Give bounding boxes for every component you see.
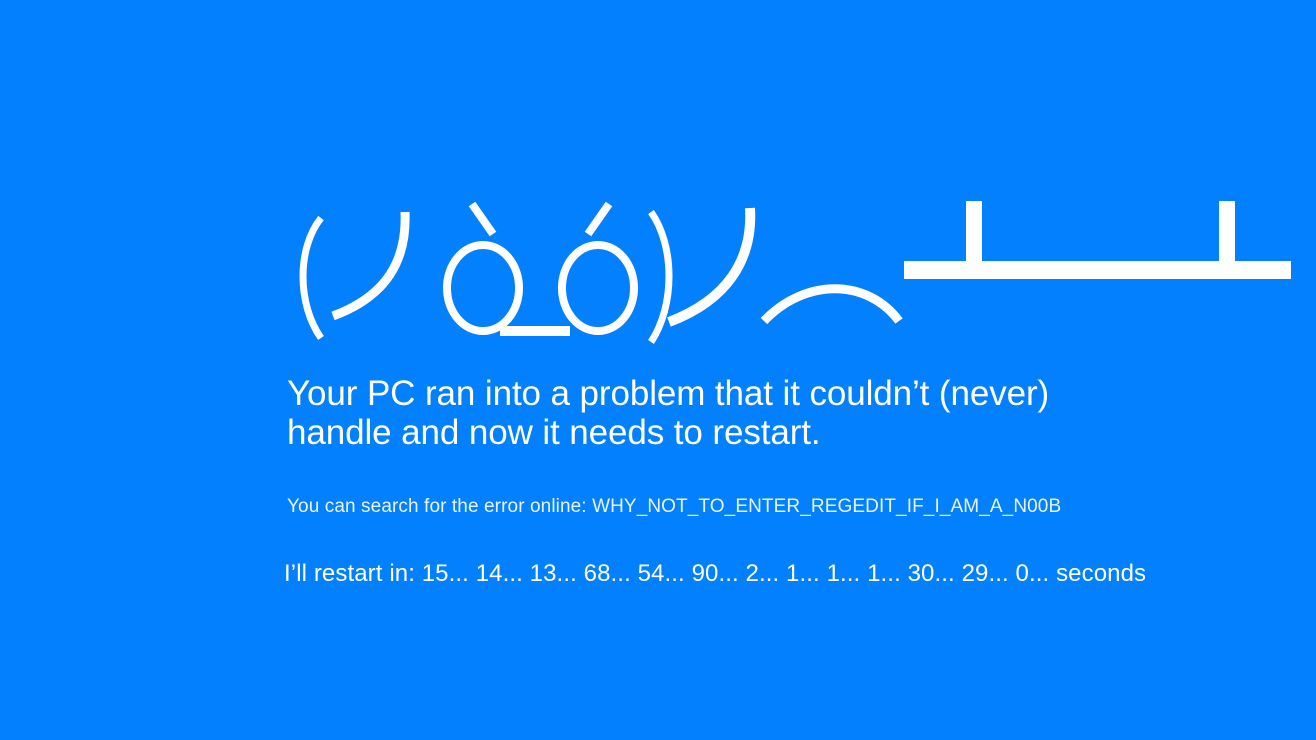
table-leg-right-glyph [1219, 201, 1235, 269]
flip-stroke-right-glyph [669, 208, 750, 322]
page-title: Your PC ran into a problem that it could… [287, 374, 1067, 452]
paren-close-glyph [651, 212, 669, 342]
error-code-line: You can search for the error online: WHY… [287, 494, 1061, 520]
table-top-bar-glyph [904, 261, 1291, 279]
table-leg-left-glyph [966, 201, 982, 269]
headline-line-1: Your PC ran into a problem that it could… [287, 374, 1067, 413]
acute-accent-glyph [588, 204, 609, 234]
grave-accent-glyph [472, 204, 493, 234]
flying-arc-glyph [764, 289, 899, 321]
eye-left-glyph [447, 245, 519, 331]
headline-line-2: handle and now it needs to restart. [287, 413, 1067, 452]
paren-open-glyph [303, 218, 321, 338]
restart-countdown-line: I’ll restart in: 15... 14... 13... 68...… [284, 558, 1146, 590]
flip-stroke-left-glyph [333, 212, 405, 316]
eye-right-glyph [562, 245, 634, 331]
mouth-underscore-glyph [500, 326, 570, 336]
table-flip-emoticon [287, 186, 1297, 361]
bsod-screen: Your PC ran into a problem that it could… [0, 0, 1316, 740]
